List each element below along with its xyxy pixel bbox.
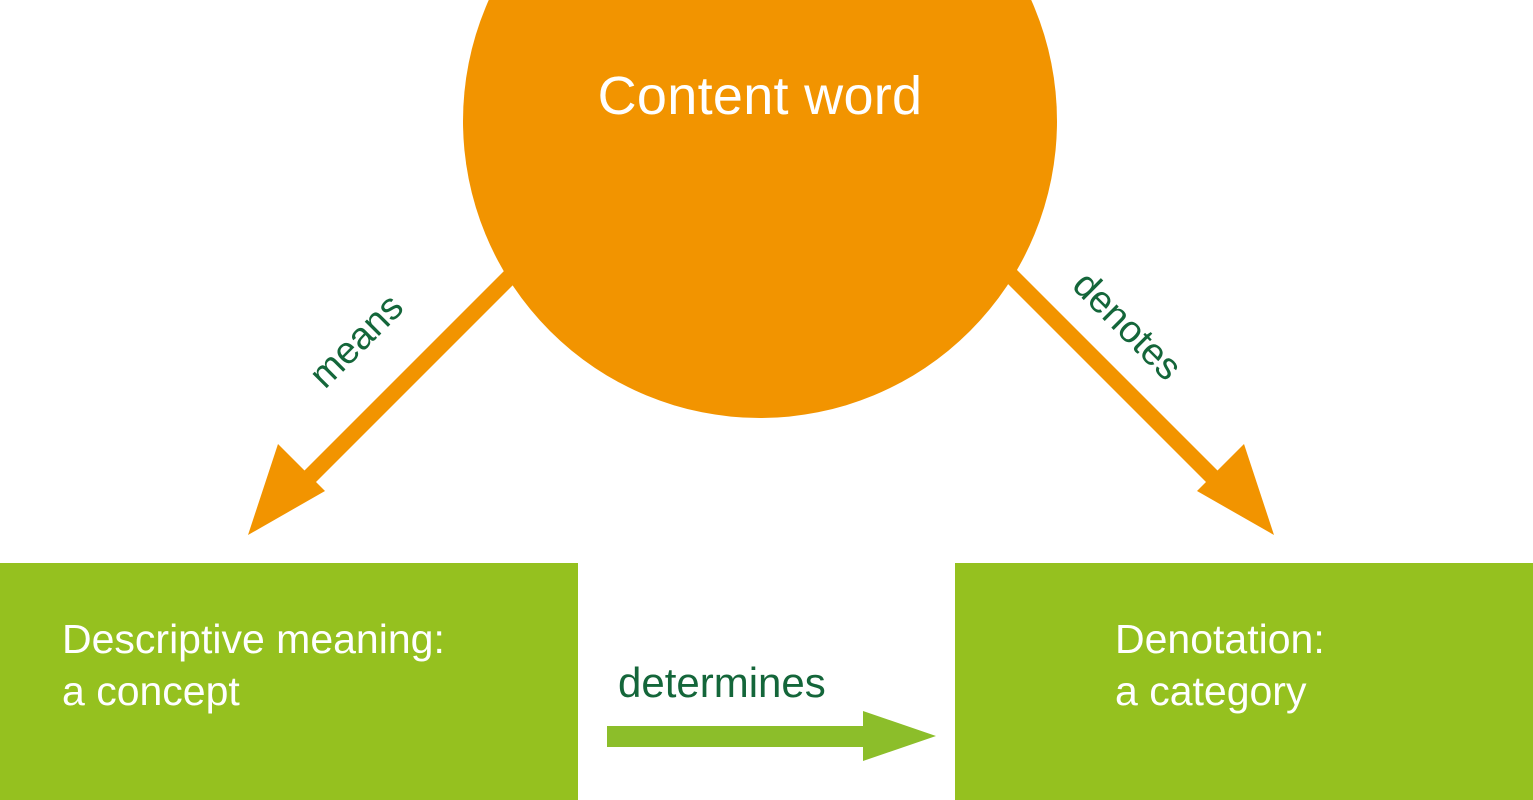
diagram-canvas: Content word Descriptive meaning: a conc… (0, 0, 1533, 800)
node-denotation[interactable]: Denotation: a category (955, 563, 1533, 800)
arrow-denotes (974, 238, 1274, 535)
arrow-determines (607, 711, 936, 761)
node-denotation-label: Denotation: a category (1115, 613, 1325, 717)
node-descriptive-meaning[interactable]: Descriptive meaning: a concept (0, 563, 578, 800)
edge-label-determines: determines (618, 659, 826, 707)
node-content-word-label: Content word (463, 68, 1057, 125)
arrow-means (248, 238, 548, 535)
node-descriptive-meaning-label: Descriptive meaning: a concept (62, 613, 445, 717)
